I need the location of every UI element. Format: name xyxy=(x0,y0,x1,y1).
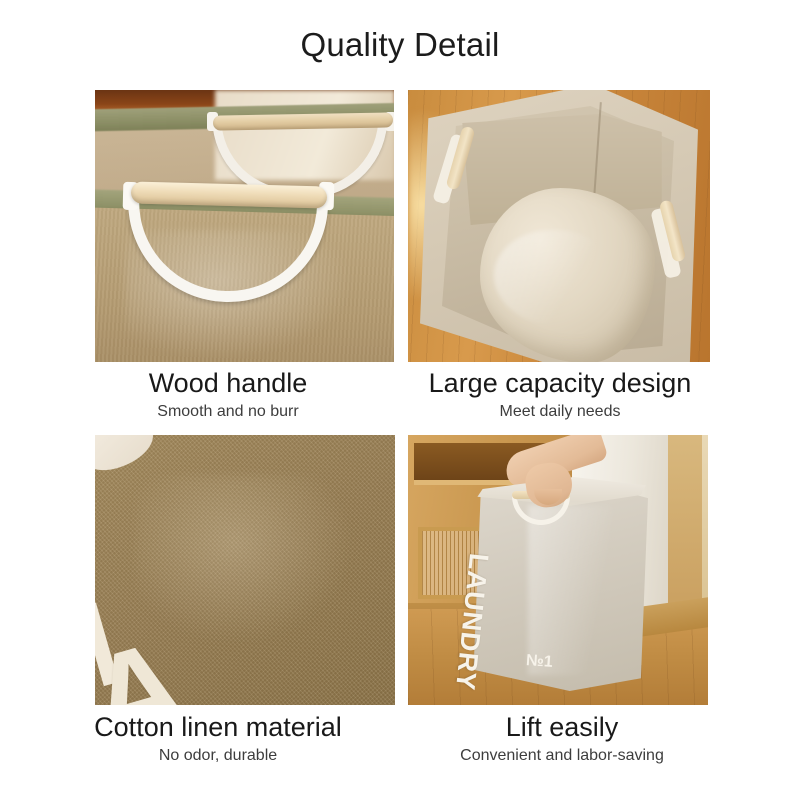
page-title: Quality Detail xyxy=(0,26,800,64)
caption-subtitle: Convenient and labor-saving xyxy=(382,747,742,765)
feature-photo-cotton-linen: M A xyxy=(95,435,395,705)
caption-subtitle: Meet daily needs xyxy=(380,403,740,421)
caption-title: Large capacity design xyxy=(380,368,740,398)
caption-subtitle: Smooth and no burr xyxy=(48,403,408,421)
caption-subtitle: No odor, durable xyxy=(38,747,398,765)
caption-wood-handle: Wood handle Smooth and no burr xyxy=(48,368,408,421)
product-detail-page: Quality Detail xyxy=(0,0,800,800)
caption-title: Lift easily xyxy=(382,712,742,742)
feature-photo-large-capacity xyxy=(408,90,710,362)
feature-photo-lift-easily: LAUNDRY №1 xyxy=(408,435,708,705)
photo-large-capacity xyxy=(408,90,710,362)
hamper-highlight xyxy=(528,505,628,675)
caption-title: Wood handle xyxy=(48,368,408,398)
feature-photo-wood-handle xyxy=(95,90,394,362)
caption-large-capacity: Large capacity design Meet daily needs xyxy=(380,368,740,421)
photo-wood-handle xyxy=(95,90,394,362)
caption-cotton-linen: Cotton linen material No odor, durable xyxy=(38,712,398,765)
wood-dowel-back xyxy=(213,112,393,130)
hamper-print-number: №1 xyxy=(525,652,553,672)
laundry-fold-highlight xyxy=(494,230,614,325)
caption-lift-easily: Lift easily Convenient and labor-saving xyxy=(382,712,742,765)
fabric-highlight xyxy=(135,475,355,645)
caption-title: Cotton linen material xyxy=(38,712,398,742)
photo-cotton-linen: M A xyxy=(95,435,395,705)
photo-lift-easily: LAUNDRY №1 xyxy=(408,435,708,705)
